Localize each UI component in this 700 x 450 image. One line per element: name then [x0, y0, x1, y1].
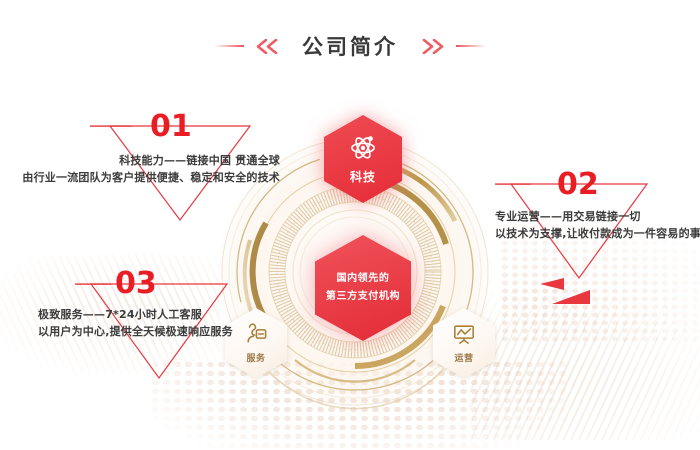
double-chevron-left-icon — [254, 39, 280, 54]
callout-03-line1: 极致服务——7*24小时人工客服 — [38, 306, 248, 323]
hexagon-operations[interactable]: 运营 — [433, 308, 495, 378]
header-rule-left — [214, 45, 244, 47]
callout-03-text: 极致服务——7*24小时人工客服 以用户为中心,提供全天候极速响应服务 — [38, 306, 248, 340]
hexagon-center-statement[interactable]: 国内领先的 第三方支付机构 — [315, 235, 411, 341]
hexagon-service-label: 服务 — [246, 351, 265, 364]
hexagon-center-line1: 国内领先的 — [336, 270, 389, 288]
page-title: 公司简介 — [290, 31, 410, 61]
chart-board-icon — [451, 323, 477, 349]
callout-01-line2: 由行业一流团队为客户提供便捷、稳定和安全的技术 — [20, 169, 280, 186]
callout-01-text: 科技能力——链接中国 贯通全球 由行业一流团队为客户提供便捷、稳定和安全的技术 — [20, 152, 280, 186]
callout-01: 01 科技能力——链接中国 贯通全球 由行业一流团队为客户提供便捷、稳定和安全的… — [90, 108, 270, 228]
callout-03-number: 03 — [115, 269, 157, 299]
atom-icon — [349, 134, 377, 164]
hexagon-center-line2: 第三方支付机构 — [326, 288, 400, 306]
callout-03: 03 极致服务——7*24小时人工客服 以用户为中心,提供全天候极速响应服务 — [75, 268, 245, 383]
callout-01-line1: 科技能力——链接中国 贯通全球 — [20, 152, 280, 169]
accent-triangles-decoration — [534, 262, 604, 308]
callout-03-line2: 以用户为中心,提供全天候极速响应服务 — [38, 323, 248, 340]
double-chevron-right-icon — [420, 39, 446, 54]
callout-02-line1: 专业运营——用交易链接一切 — [495, 208, 685, 225]
page-header: 公司简介 — [0, 28, 700, 64]
hexagon-operations-label: 运营 — [454, 351, 473, 364]
callout-02-line2: 以技术为支撑,让收付款成为一件容易的事 — [495, 225, 685, 242]
callout-01-number: 01 — [150, 112, 192, 142]
callout-02-number: 02 — [557, 170, 599, 200]
hexagon-technology[interactable]: 科技 — [324, 115, 402, 203]
page-root: 公司简介 — [0, 0, 700, 450]
header-rule-right — [456, 45, 486, 47]
callout-02-text: 专业运营——用交易链接一切 以技术为支撑,让收付款成为一件容易的事 — [495, 208, 685, 242]
hexagon-technology-label: 科技 — [350, 168, 376, 185]
